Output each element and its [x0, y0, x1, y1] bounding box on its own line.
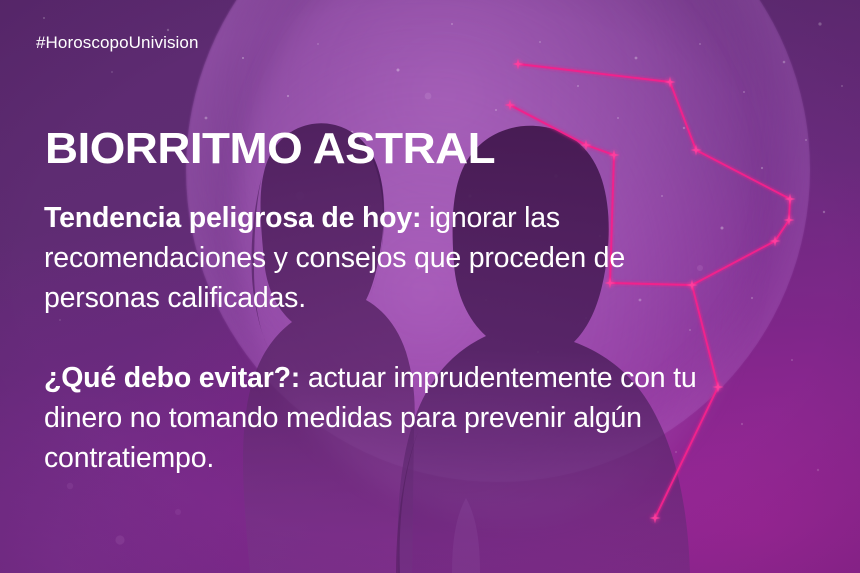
paragraph-tendencia: Tendencia peligrosa de hoy: ignorar las … — [44, 198, 744, 318]
paragraph-evitar-lead: ¿Qué debo evitar?: — [44, 362, 300, 394]
horoscope-text-block: Tendencia peligrosa de hoy: ignorar las … — [44, 198, 744, 478]
card-content: #HoroscopoUnivision BIORRITMO ASTRAL Ten… — [0, 0, 860, 573]
paragraph-evitar: ¿Qué debo evitar?: actuar imprudentement… — [44, 358, 744, 478]
hashtag-label: #HoroscopoUnivision — [36, 33, 199, 53]
horoscope-card: #HoroscopoUnivision BIORRITMO ASTRAL Ten… — [0, 0, 860, 573]
page-title: BIORRITMO ASTRAL — [45, 126, 495, 172]
paragraph-tendencia-lead: Tendencia peligrosa de hoy: — [44, 202, 421, 234]
